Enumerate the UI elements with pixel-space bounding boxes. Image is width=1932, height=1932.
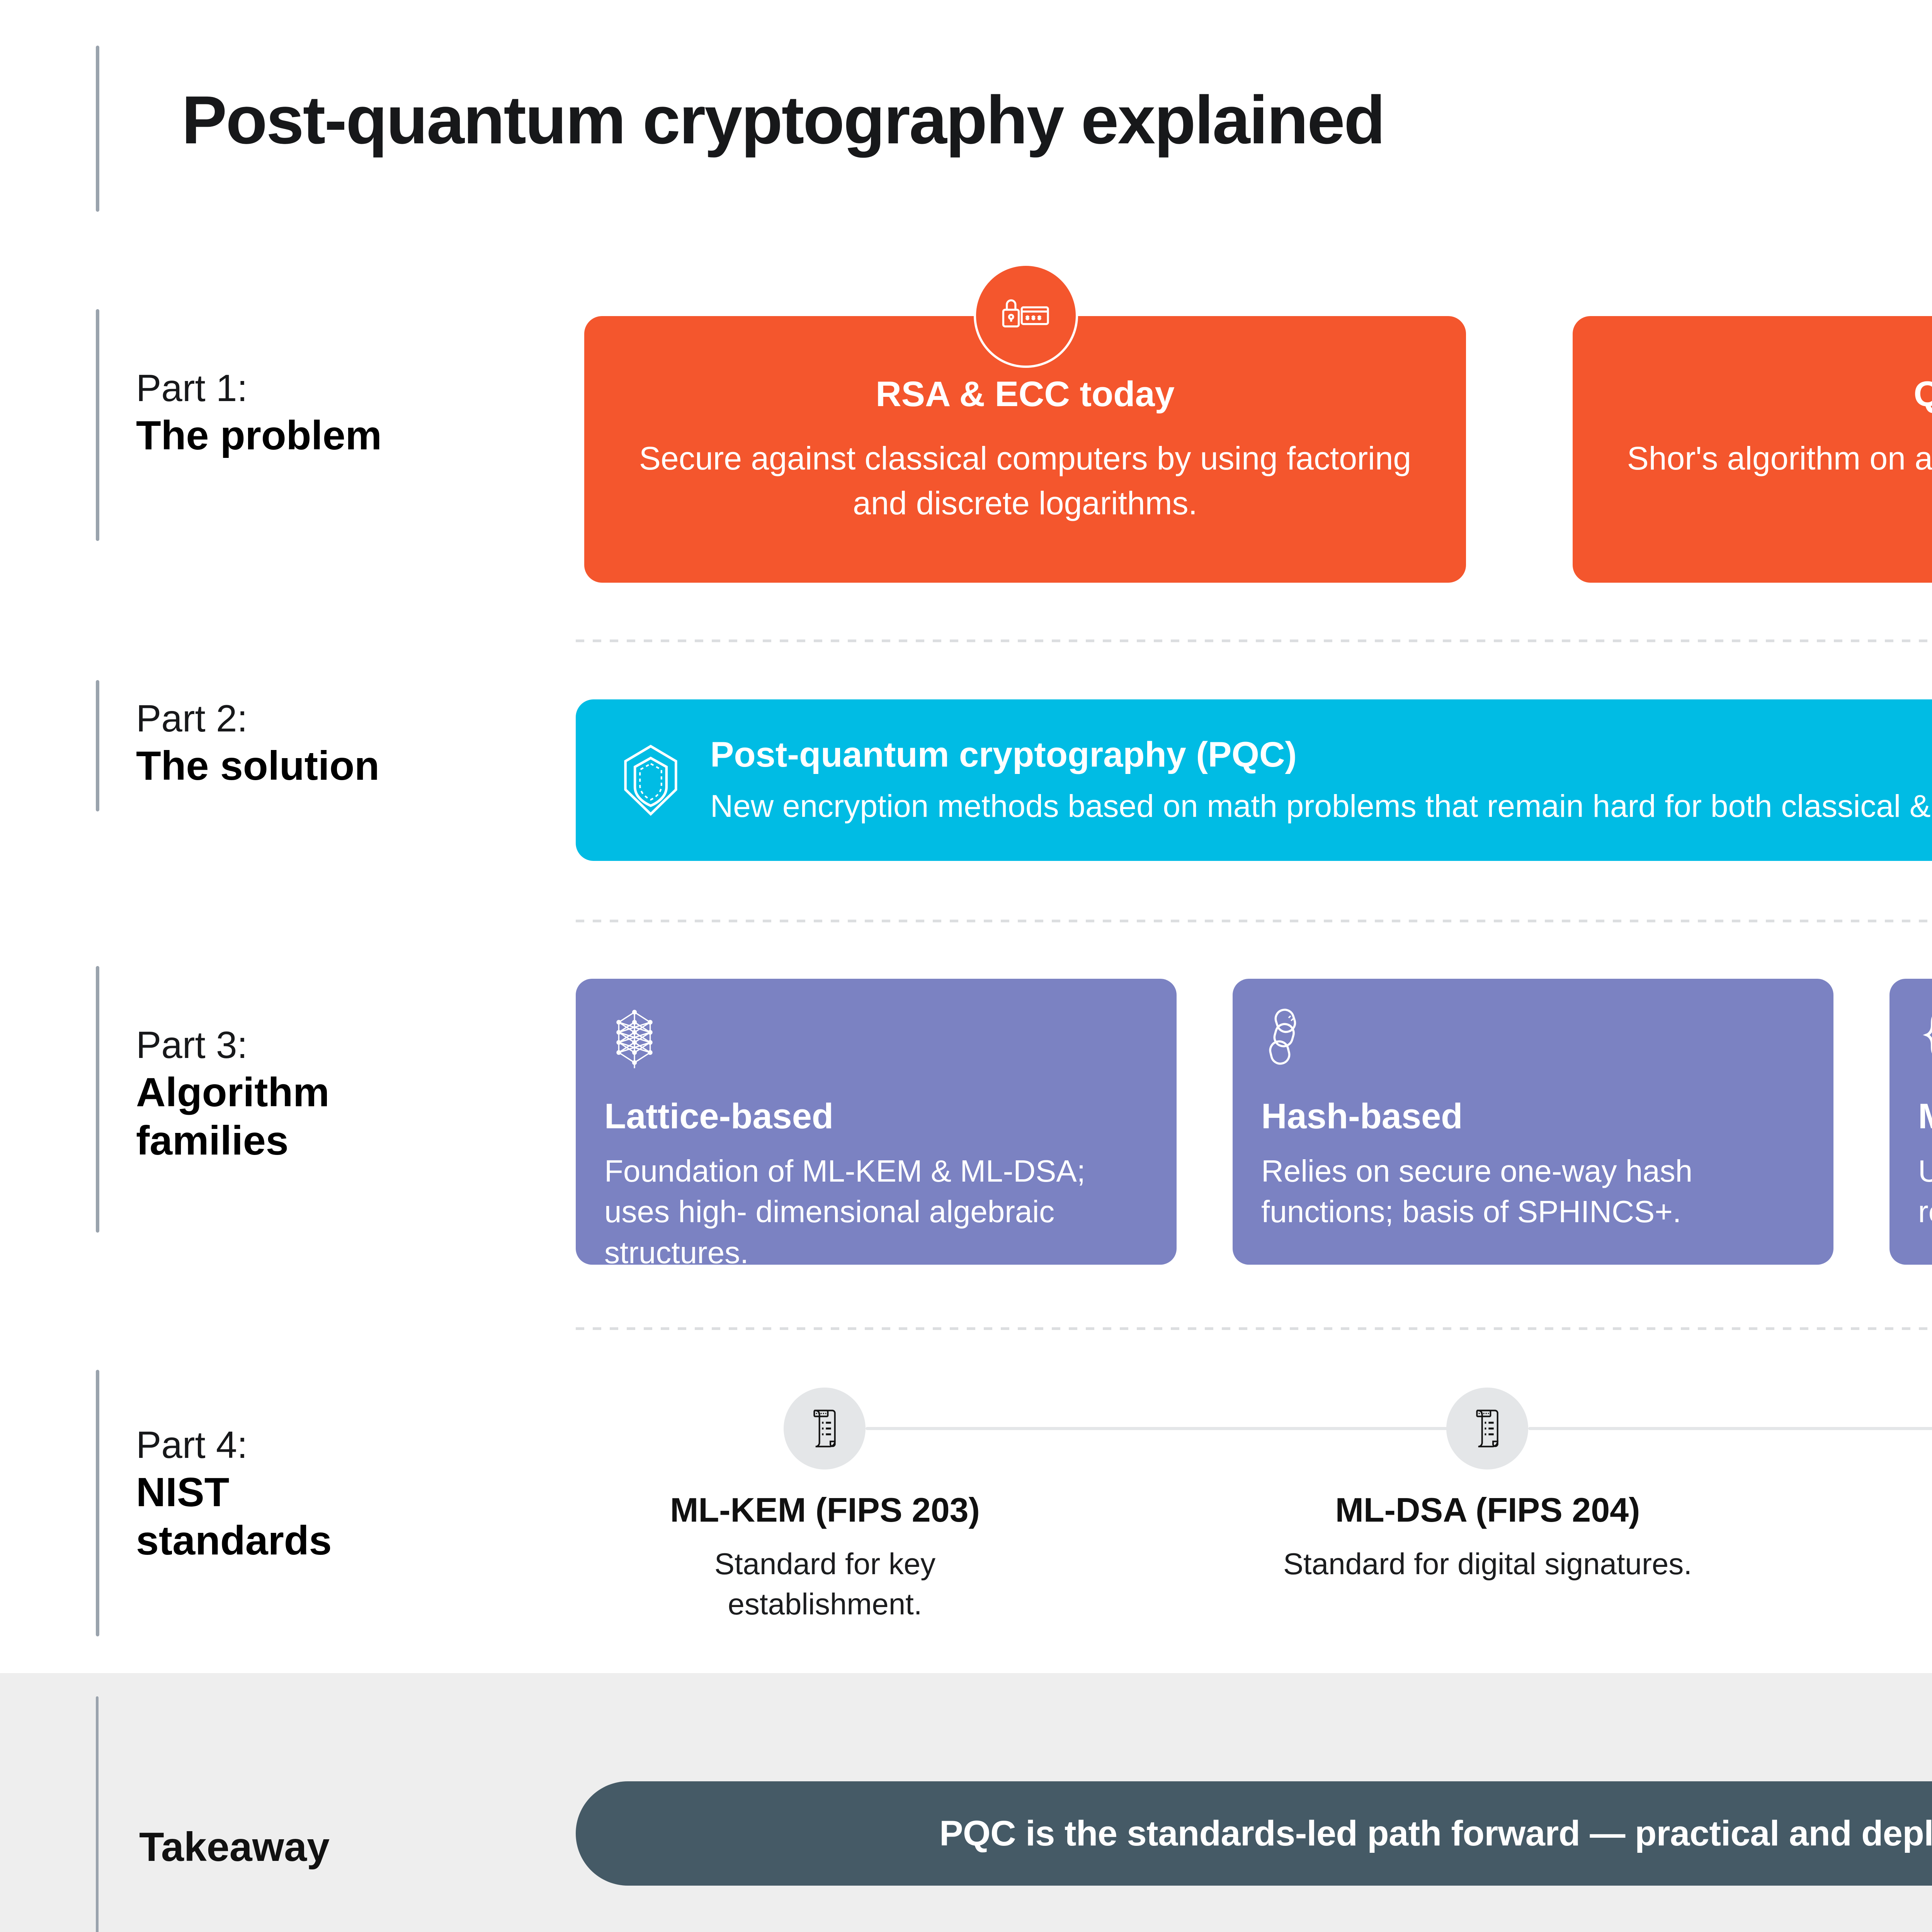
- section-kicker-part-3: Part 3:: [136, 1022, 330, 1068]
- card-body: Secure against classical computers by us…: [611, 436, 1439, 526]
- standard-title: ML-KEM (FIPS 203): [614, 1490, 1036, 1531]
- section-label-part-4: Part 4: NIST standards: [136, 1422, 332, 1565]
- section-title-part-3-line1: Algorithm: [136, 1068, 330, 1117]
- scroll-document-icon: [803, 1405, 846, 1452]
- card-quantum-threat: Quantum threat Shor's algorithm on a qua…: [1573, 316, 1932, 583]
- section-title-part-3-line2: families: [136, 1117, 330, 1165]
- curly-braces-icon: [1918, 1007, 1932, 1080]
- standard-body: Standard for digital signatures.: [1277, 1544, 1698, 1584]
- timeline-connector-2: [1528, 1427, 1932, 1430]
- takeaway-rail: [96, 1696, 99, 1932]
- scroll-document-icon: [1466, 1405, 1509, 1452]
- section-kicker-part-1: Part 1:: [136, 365, 382, 412]
- banner-body: New encryption methods based on math pro…: [710, 786, 1932, 827]
- lock-password-icon: [974, 264, 1078, 368]
- card-title: Quantum threat: [1914, 373, 1932, 415]
- section-title-part-4-line1: NIST: [136, 1468, 332, 1517]
- timeline-label-ml-dsa: ML-DSA (FIPS 204) Standard for digital s…: [1277, 1490, 1698, 1584]
- banner-title: Post-quantum cryptography (PQC): [710, 733, 1932, 776]
- card-body: Uses polynomial equations; still in rese…: [1918, 1151, 1932, 1232]
- banner-text: Post-quantum cryptography (PQC) New encr…: [710, 733, 1932, 827]
- banner-pqc: Post-quantum cryptography (PQC) New encr…: [576, 699, 1932, 861]
- card-multivariate: Multivariate Uses polynomial equations; …: [1889, 979, 1932, 1265]
- divider-part-1-2: [576, 639, 1932, 642]
- section-rail-part-4: [96, 1370, 99, 1636]
- section-label-part-3: Part 3: Algorithm families: [136, 1022, 330, 1165]
- section-kicker-part-4: Part 4:: [136, 1422, 332, 1468]
- timeline-node-ml-dsa: [1446, 1388, 1528, 1469]
- chain-link-icon: [1261, 1007, 1805, 1080]
- card-lattice-based: Lattice-based Foundation of ML-KEM & ML-…: [576, 979, 1177, 1265]
- title-accent-rail: [96, 46, 99, 212]
- section-label-part-2: Part 2: The solution: [136, 696, 379, 790]
- timeline-connector-1: [866, 1427, 1495, 1430]
- card-hash-based: Hash-based Relies on secure one-way hash…: [1233, 979, 1833, 1265]
- section-rail-part-3: [96, 966, 99, 1233]
- lattice-network-icon: [604, 1007, 1148, 1080]
- section-label-part-1: Part 1: The problem: [136, 365, 382, 460]
- timeline-label-ml-kem: ML-KEM (FIPS 203) Standard for key estab…: [614, 1490, 1036, 1624]
- section-title-part-2: The solution: [136, 742, 379, 790]
- infographic-root: Post-quantum cryptography explained Part…: [0, 0, 1932, 1932]
- standard-body: Standard for key establishment.: [614, 1544, 1036, 1624]
- takeaway-label: Takeaway: [139, 1824, 330, 1871]
- card-body: Shor's algorithm on a quantum computer c…: [1600, 436, 1932, 526]
- section-rail-part-2: [96, 680, 99, 811]
- card-title: Hash-based: [1261, 1096, 1805, 1137]
- section-kicker-part-2: Part 2:: [136, 696, 379, 742]
- section-title-part-1: The problem: [136, 412, 382, 460]
- page-title: Post-quantum cryptography explained: [182, 81, 1384, 159]
- section-title-part-4-line2: standards: [136, 1517, 332, 1565]
- divider-part-3-4: [576, 1327, 1932, 1330]
- card-title: RSA & ECC today: [876, 373, 1175, 415]
- hex-shield-icon: [613, 742, 689, 818]
- header: Post-quantum cryptography explained: [0, 0, 1932, 247]
- card-title: Lattice-based: [604, 1096, 1148, 1137]
- section-rail-part-1: [96, 309, 99, 541]
- card-body: Relies on secure one-way hash functions;…: [1261, 1151, 1805, 1232]
- timeline-node-ml-kem: [784, 1388, 866, 1469]
- takeaway-message: PQC is the standards-led path forward — …: [576, 1781, 1932, 1886]
- card-body: Foundation of ML-KEM & ML-DSA; uses high…: [604, 1151, 1148, 1273]
- standard-title: ML-DSA (FIPS 204): [1277, 1490, 1698, 1531]
- divider-part-2-3: [576, 920, 1932, 922]
- card-title: Multivariate: [1918, 1096, 1932, 1137]
